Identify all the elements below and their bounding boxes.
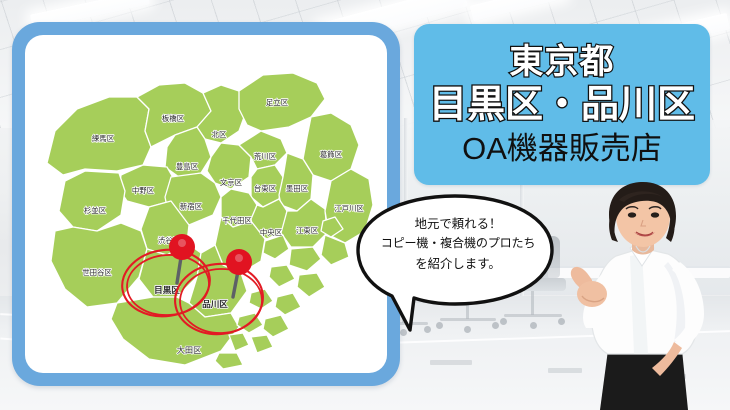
title-line-category: OA機器販売店 xyxy=(462,133,662,164)
svg-text:千代田区: 千代田区 xyxy=(222,216,252,225)
svg-text:豊島区: 豊島区 xyxy=(176,162,199,171)
speech-bubble-text: 地元で頼れる！ コピー機・複合機のプロたち を紹介します。 xyxy=(368,214,548,274)
tokyo-wards-map-svg: 練馬区 板橋区 北区 足立区 葛飾区 豊島区 文京区 荒川区 台東区 墨田区 中… xyxy=(25,35,387,373)
title-box: 東京都 目黒区・品川区 OA機器販売店 xyxy=(414,24,710,185)
speech-bubble: 地元で頼れる！ コピー機・複合機のプロたち を紹介します。 xyxy=(352,192,562,337)
map-card: 練馬区 板橋区 北区 足立区 葛飾区 豊島区 文京区 荒川区 台東区 墨田区 中… xyxy=(12,22,400,386)
svg-text:葛飾区: 葛飾区 xyxy=(320,150,343,159)
bubble-line-2: コピー機・複合機のプロたち xyxy=(368,234,548,254)
svg-text:台東区: 台東区 xyxy=(254,184,277,193)
svg-text:文京区: 文京区 xyxy=(220,178,243,187)
svg-text:墨田区: 墨田区 xyxy=(286,184,309,193)
svg-text:練馬区: 練馬区 xyxy=(92,134,115,143)
svg-text:世田谷区: 世田谷区 xyxy=(82,268,112,277)
svg-text:中野区: 中野区 xyxy=(132,186,155,195)
svg-text:杉並区: 杉並区 xyxy=(84,206,107,215)
svg-text:荒川区: 荒川区 xyxy=(254,152,277,161)
svg-text:江東区: 江東区 xyxy=(296,226,319,235)
svg-text:北区: 北区 xyxy=(212,130,227,139)
bubble-line-1: 地元で頼れる！ xyxy=(368,214,548,234)
svg-text:大田区: 大田区 xyxy=(177,345,202,355)
business-woman-illustration xyxy=(556,182,730,410)
svg-text:中央区: 中央区 xyxy=(260,228,283,237)
skirt xyxy=(600,350,688,410)
bubble-line-3: を紹介します。 xyxy=(368,254,548,274)
poster-canvas: 練馬区 板橋区 北区 足立区 葛飾区 豊島区 文京区 荒川区 台東区 墨田区 中… xyxy=(0,0,730,410)
tokyo-map: 練馬区 板橋区 北区 足立区 葛飾区 豊島区 文京区 荒川区 台東区 墨田区 中… xyxy=(25,35,387,373)
ward-shapes xyxy=(47,73,373,369)
svg-text:足立区: 足立区 xyxy=(266,98,289,107)
svg-text:新宿区: 新宿区 xyxy=(180,202,203,211)
svg-text:板橋区: 板橋区 xyxy=(162,114,185,123)
title-line-prefecture: 東京都 xyxy=(510,45,615,79)
person-photo xyxy=(556,182,730,410)
svg-text:品川区: 品川区 xyxy=(202,299,228,309)
title-line-wards: 目黒区・品川区 xyxy=(429,86,695,124)
